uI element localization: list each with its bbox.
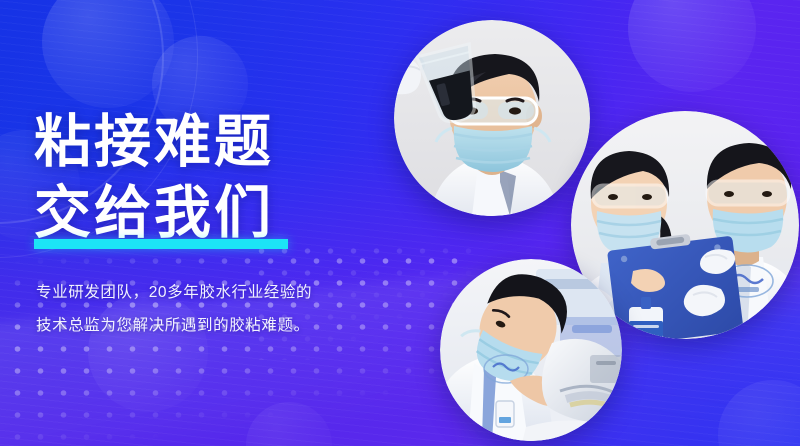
- headline-underline-bar: [34, 239, 288, 249]
- headline-line-1: 粘接难题: [34, 114, 274, 171]
- photo-glue-application: [440, 259, 622, 441]
- subtitle-line-2: 技术总监为您解决所遇到的胶粘难题。: [36, 318, 310, 334]
- photo-lab-beaker: [394, 20, 590, 216]
- headline-line-2: 交给我们: [34, 185, 274, 242]
- photo-glue-application-image: [440, 259, 622, 441]
- photo-lab-beaker-image: [394, 20, 590, 216]
- subtitle-line-1: 专业研发团队，20多年胶水行业经验的: [36, 285, 312, 301]
- promo-banner: 粘接难题 交给我们 专业研发团队，20多年胶水行业经验的 技术总监为您解决所遇到…: [0, 0, 800, 446]
